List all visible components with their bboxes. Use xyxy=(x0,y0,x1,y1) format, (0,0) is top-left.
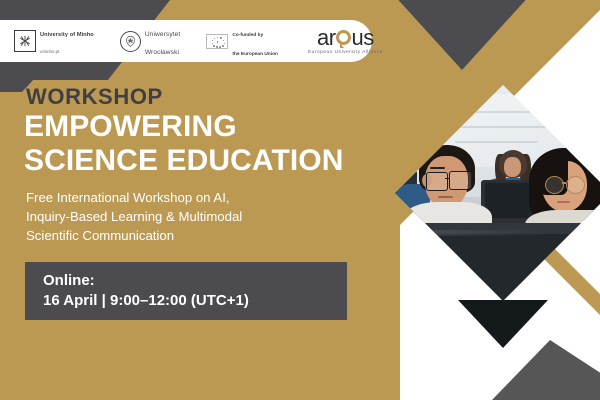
subtitle: Free International Workshop on AI, Inqui… xyxy=(26,188,242,245)
event-mode-label: Online: xyxy=(43,272,347,291)
subtitle-line-1: Free International Workshop on AI, xyxy=(26,188,242,207)
girl-glasses-bridge xyxy=(562,182,566,183)
boy-mouth xyxy=(438,196,453,198)
background-student-face xyxy=(504,157,521,176)
wroclaw-line1: Uniwersytet xyxy=(145,31,181,38)
eu-wordmark: Co-funded by the European Union xyxy=(232,22,278,60)
subtitle-line-3: Scientific Communication xyxy=(26,226,242,245)
whiteboard-line xyxy=(455,141,537,143)
headline-line-2: SCIENCE EDUCATION xyxy=(24,144,344,178)
eu-flag-icon xyxy=(206,34,228,49)
event-details-box: Online: 16 April | 9:00–12:00 (UTC+1) xyxy=(25,262,347,320)
page-title: EMPOWERING SCIENCE EDUCATION xyxy=(24,110,344,177)
minho-wordmark: University of Minho uminho.pt xyxy=(40,24,94,58)
eu-line1: Co-funded by xyxy=(232,33,263,38)
eyebrow-label: WORKSHOP xyxy=(26,84,163,110)
event-datetime: 16 April | 9:00–12:00 (UTC+1) xyxy=(43,291,347,311)
subtitle-line-2: Inquiry-Based Learning & Multimodal xyxy=(26,207,242,226)
workshop-poster: University of Minho uminho.pt Uniwersyte… xyxy=(0,0,600,400)
logo-co-funded-eu: Co-funded by the European Union xyxy=(206,22,278,60)
wroclaw-crest-icon xyxy=(120,31,141,52)
partner-logo-bar: University of Minho uminho.pt Uniwersyte… xyxy=(0,20,372,62)
eu-line2: the European Union xyxy=(232,52,278,57)
boy-glasses-right-lens xyxy=(449,171,472,189)
minho-name: University of Minho xyxy=(40,32,94,38)
back-monitor-screen xyxy=(485,183,535,218)
wroclaw-wordmark: Uniwersytet Wrocławski xyxy=(145,23,181,60)
boy-glasses-bridge xyxy=(445,178,449,180)
logo-uniwersytet-wroclawski: Uniwersytet Wrocławski xyxy=(120,23,181,60)
arqus-tagline: European University Alliance xyxy=(308,50,383,55)
logo-arqus: ar us European University Alliance xyxy=(308,27,383,56)
girl-glasses-right-lens xyxy=(566,176,585,194)
boy-brow xyxy=(430,167,445,169)
girl-mouth xyxy=(557,201,570,203)
wroclaw-line2: Wrocławski xyxy=(145,49,179,56)
arqus-wordmark: ar us xyxy=(317,27,374,49)
whiteboard-line xyxy=(460,126,568,128)
minho-url: uminho.pt xyxy=(40,49,59,54)
arqus-q-speech-bubble-icon xyxy=(336,30,351,45)
arqus-text-right: us xyxy=(352,27,374,49)
logo-university-of-minho: University of Minho uminho.pt xyxy=(14,24,94,58)
boy-glasses-left-lens xyxy=(426,172,447,190)
arqus-text-left: ar xyxy=(317,27,336,49)
minho-asterisk-icon xyxy=(14,30,36,52)
headline-line-1: EMPOWERING xyxy=(24,110,344,144)
